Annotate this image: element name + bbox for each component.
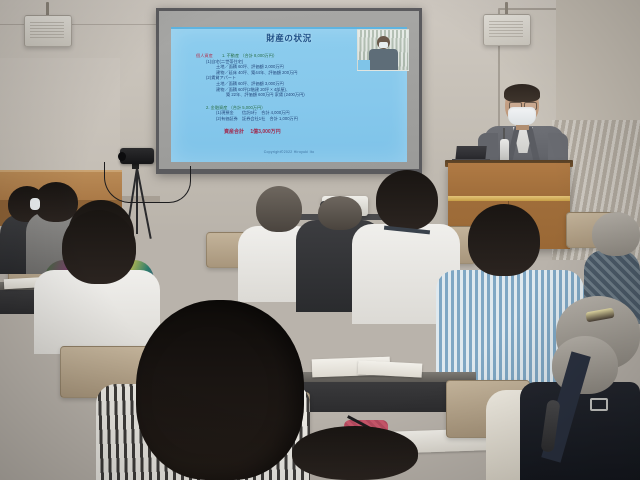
presenter-hair — [504, 84, 540, 102]
wall-speaker-left — [24, 15, 72, 47]
attendee-white-shirt-left-head — [62, 210, 136, 284]
lecture-hall-photo: 財産の状況 個人資産 1. 不動産 （合計 8,000万円） (1)自宅(二世帯… — [0, 0, 640, 480]
attendee-dark-suit-center-head — [318, 196, 362, 230]
attendee-front-right-dark-head — [292, 426, 418, 480]
slide-total: 資産合計 1億3,000万円 — [196, 122, 396, 135]
camera-lens-icon — [118, 152, 126, 161]
slide-spacer — [196, 98, 396, 105]
slide-video-overlay — [357, 29, 409, 71]
strap-buckle — [590, 398, 608, 411]
wall-speaker-left-hook — [46, 2, 49, 16]
podium-trim — [448, 196, 570, 201]
presenter-face-mask — [508, 107, 536, 125]
wall-speaker-right — [483, 14, 531, 46]
attendee-masked-left-face-mask — [30, 198, 40, 210]
attendee-longhair-foreground-hair — [136, 300, 304, 480]
attendee-striped-blue-head — [468, 204, 540, 276]
slide-copyright: Copyright©2022 Hiroyuki Ito — [171, 150, 407, 154]
attendee-white-shirt-center-head — [256, 186, 302, 232]
attendee-dark-vest-right-vest — [520, 382, 640, 480]
attendee-masked-left-head — [34, 182, 78, 222]
slide-section1-heading: 1. 不動産 （合計 8,000万円） — [214, 53, 277, 58]
attendee-white-polo-center-head — [376, 170, 438, 230]
attendee-elderly-gray-head — [592, 212, 640, 256]
slide-section1-label: 個人資産 — [196, 53, 213, 58]
